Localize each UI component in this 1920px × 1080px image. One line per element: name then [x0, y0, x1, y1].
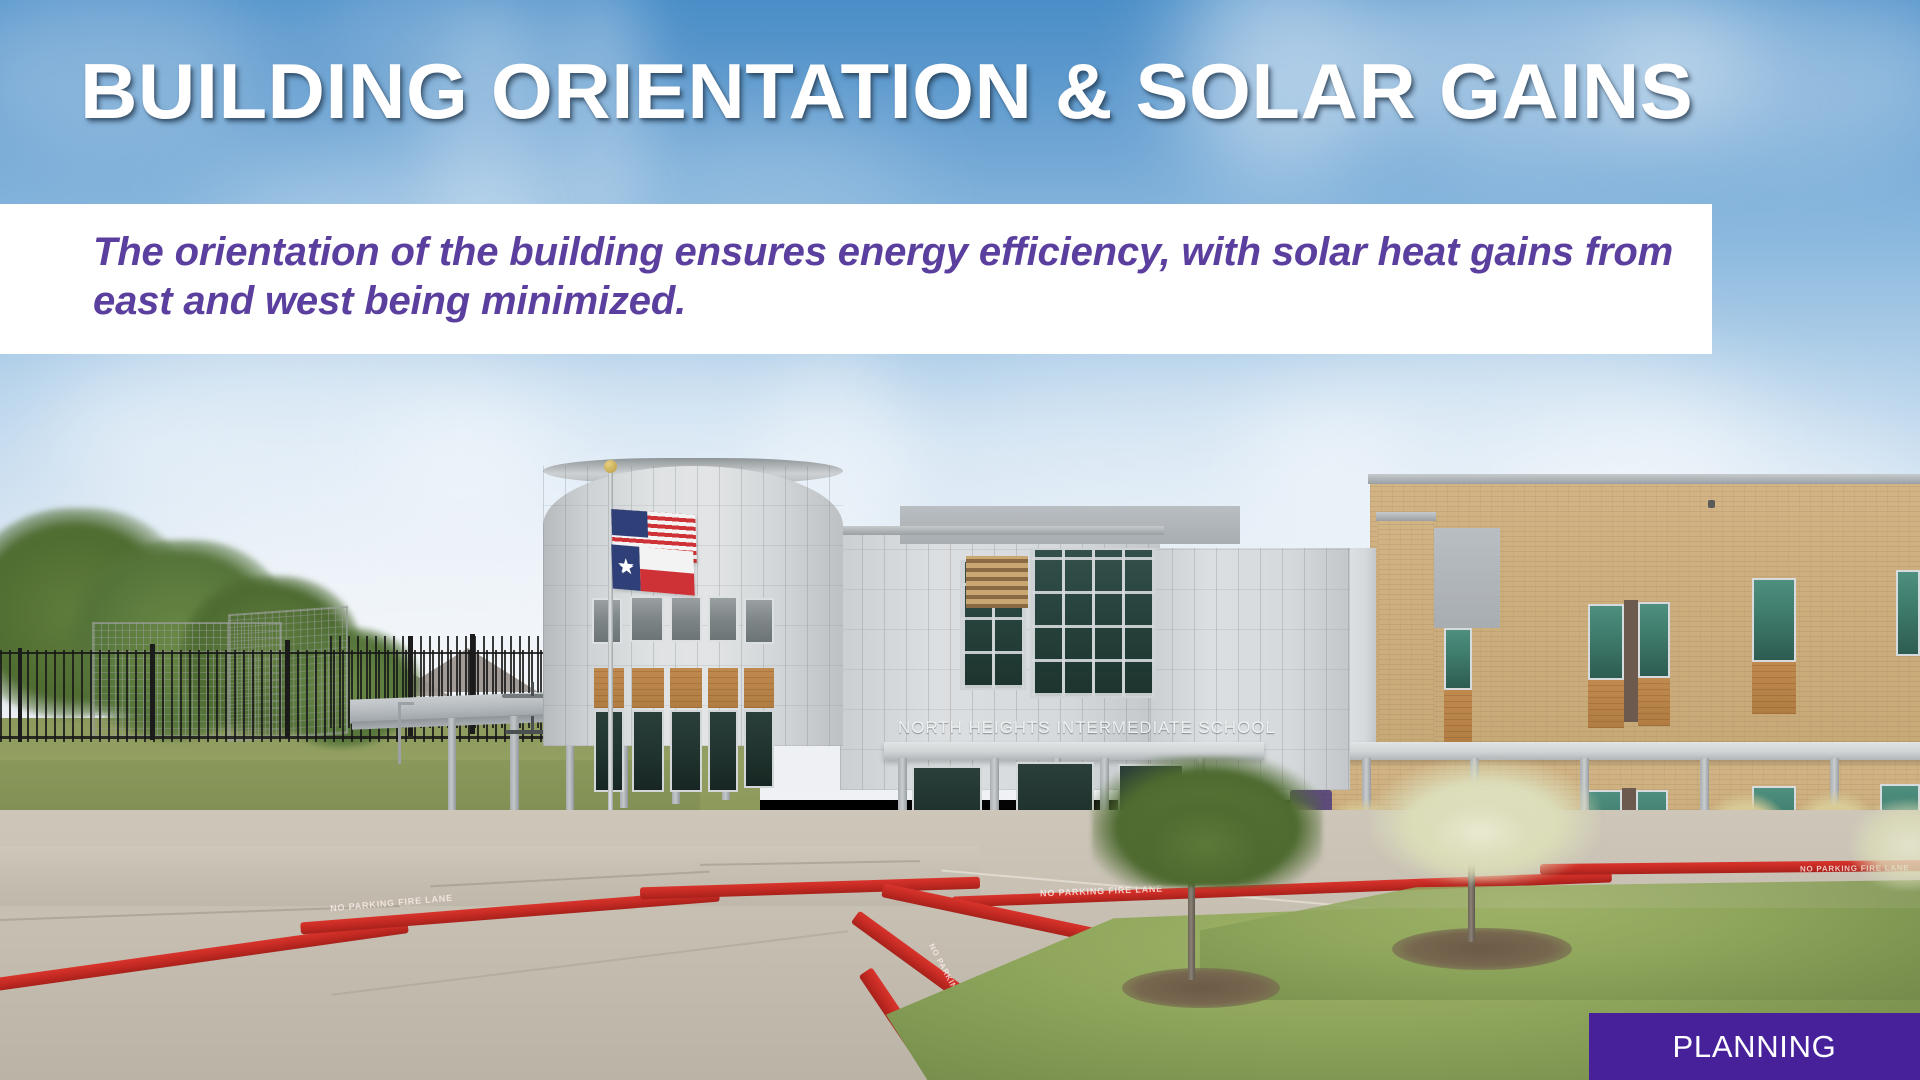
clerestory-window — [670, 596, 702, 642]
texas-flag: ★ ★ — [611, 544, 694, 595]
gray-panel-recess — [1434, 528, 1500, 628]
pavilion-column — [448, 718, 456, 814]
window — [1588, 604, 1624, 680]
sunshade-louvers — [966, 556, 1028, 608]
wood-panel — [1638, 678, 1670, 726]
window — [1638, 602, 1670, 678]
planning-badge-label: PLANNING — [1673, 1029, 1837, 1065]
wood-panel — [1444, 690, 1472, 750]
flowering-shrub — [1850, 800, 1920, 890]
clerestory-window — [592, 598, 622, 644]
wood-panel — [1752, 662, 1796, 714]
window — [708, 710, 738, 792]
wood-panel — [708, 668, 738, 708]
clerestory-window — [630, 596, 664, 642]
security-camera — [1708, 500, 1715, 508]
tree-mulch-ring — [1122, 968, 1280, 1008]
planning-badge: PLANNING — [1589, 1013, 1920, 1080]
clerestory-window — [744, 598, 774, 644]
slide-root: NORTH HEIGHTS INTERMEDIATE SCHOOL ★ ★ — [0, 0, 1920, 1080]
window — [1752, 578, 1796, 662]
window — [632, 710, 664, 792]
building-signage: NORTH HEIGHTS INTERMEDIATE SCHOOL — [898, 718, 1276, 738]
wood-panel — [744, 668, 774, 708]
parapet-coping — [1368, 474, 1920, 484]
window — [1896, 570, 1920, 656]
clerestory-window — [708, 596, 738, 642]
sidewalk — [0, 846, 980, 906]
canopy-soffit — [900, 506, 1240, 544]
background-photograph: NORTH HEIGHTS INTERMEDIATE SCHOOL ★ ★ — [0, 0, 1920, 1080]
flagpole-finial — [604, 460, 617, 473]
caption-text: The orientation of the building ensures … — [93, 228, 1673, 326]
entry-curtain-wall — [1030, 548, 1156, 698]
wood-panel — [632, 668, 664, 708]
page-title: BUILDING ORIENTATION & SOLAR GAINS — [80, 52, 1794, 130]
window — [744, 710, 774, 788]
window — [1444, 628, 1472, 690]
wood-panel — [1588, 680, 1624, 728]
window — [670, 710, 702, 792]
tree-mulch-ring — [1392, 928, 1572, 970]
wood-panel — [670, 668, 702, 708]
light-pole — [398, 704, 401, 764]
